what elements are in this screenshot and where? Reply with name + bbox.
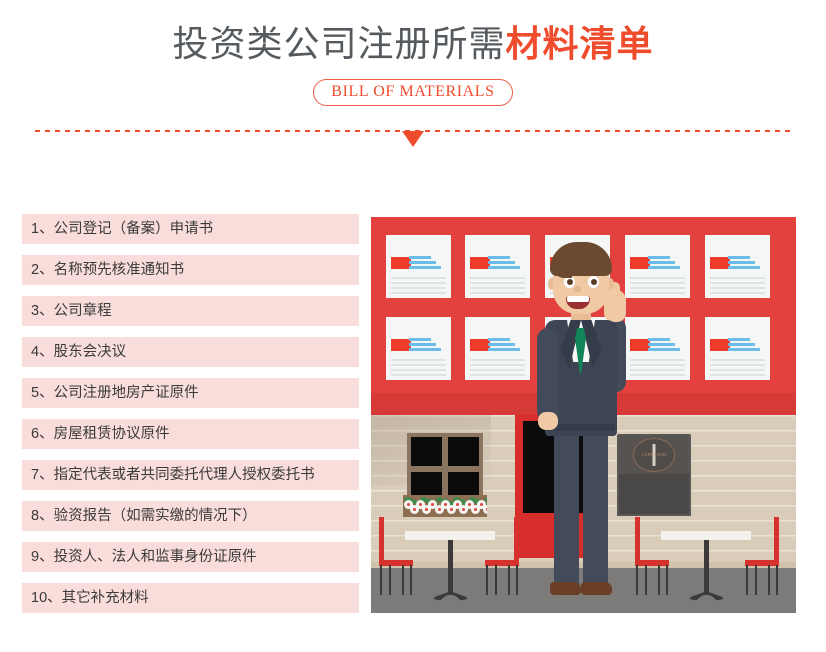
poster-headline-line [648, 266, 680, 269]
chair-leg [516, 565, 518, 595]
cafe-table [661, 531, 751, 603]
right-leg [583, 428, 608, 588]
flower [483, 505, 487, 514]
poster-text-line [391, 359, 446, 361]
poster-headline-line [728, 348, 760, 351]
materials-list: 1、公司登记（备案）申请书2、名称预先核准通知书3、公司章程4、股东会决议5、公… [22, 214, 359, 624]
poster-headline-line [728, 338, 750, 341]
chair-leg [508, 565, 510, 595]
poster-text-line [710, 277, 765, 279]
poster-headline-line [728, 266, 760, 269]
poster-text-line [710, 292, 765, 294]
poster-text-line [710, 287, 765, 289]
window-pane [448, 437, 479, 466]
list-item: 8、验资报告（如需实缴的情况下） [22, 501, 359, 531]
poster-text-line [391, 282, 446, 284]
poster-text-line [710, 359, 765, 361]
window-flower-box [403, 495, 487, 517]
poster-headline-line [648, 343, 675, 346]
poster-headline-line [409, 338, 431, 341]
chair-leg [389, 565, 391, 595]
poster-text-line [710, 369, 765, 371]
list-item: 5、公司注册地房产证原件 [22, 378, 359, 408]
page-title-accent: 材料清单 [506, 23, 654, 64]
poster-text-line [710, 282, 765, 284]
poster-document [386, 317, 451, 380]
right-shoe [581, 582, 612, 595]
down-arrow-icon [402, 131, 424, 147]
poster-headline-line [648, 338, 670, 341]
poster-image-block [470, 339, 490, 351]
poster-text-line [470, 374, 525, 376]
cafe-table [405, 531, 495, 603]
poster-text-line [470, 282, 525, 284]
chair-leg [380, 565, 382, 595]
left-leg [554, 428, 579, 588]
table-base [431, 591, 470, 601]
page-title-plain: 投资类公司注册所需 [172, 23, 505, 64]
poster-text-line [470, 359, 525, 361]
poster-document [705, 317, 770, 380]
chair-back [379, 517, 384, 565]
right-eye [588, 276, 599, 288]
list-item: 3、公司章程 [22, 296, 359, 326]
window-pane [411, 437, 442, 466]
poster-headline-line [488, 343, 515, 346]
poster-headline-line [488, 338, 510, 341]
poster-text-line [470, 292, 525, 294]
left-arm [537, 328, 559, 422]
list-item: 10、其它补充材料 [22, 583, 359, 613]
poster-text-line [391, 292, 446, 294]
table-base [687, 591, 726, 601]
chair-leg [645, 565, 647, 595]
chair-leg [768, 565, 770, 595]
poster-headline-line [648, 256, 670, 259]
poster-text-line [391, 277, 446, 279]
poster-headline-line [648, 261, 675, 264]
subtitle-badge-wrapper: BILL OF MATERIALS [0, 79, 826, 106]
poster-headline-line [488, 266, 520, 269]
poster-image-block [391, 339, 411, 351]
poster-image-block [710, 257, 730, 269]
page-title: 投资类公司注册所需材料清单 [0, 22, 826, 66]
poster-text-line [391, 369, 446, 371]
poster-text-line [470, 364, 525, 366]
list-item: 4、股东会决议 [22, 337, 359, 367]
poster-text-line [470, 277, 525, 279]
poster-headline-line [409, 261, 436, 264]
poster-text-line [391, 364, 446, 366]
left-shoe [550, 582, 581, 595]
poster-text-line [470, 287, 525, 289]
poster-headline-line [488, 256, 510, 259]
poster-text-line [391, 374, 446, 376]
poster-image-block [470, 257, 490, 269]
list-item: 2、名称预先核准通知书 [22, 255, 359, 285]
poster-headline-line [728, 256, 750, 259]
poster-headline-line [728, 343, 755, 346]
table-stem [704, 540, 709, 595]
poster-headline-line [728, 261, 755, 264]
poster-text-line [470, 369, 525, 371]
businessman-figure [521, 232, 641, 613]
list-item: 1、公司登记（备案）申请书 [22, 214, 359, 244]
poster-headline-line [409, 256, 431, 259]
chair-back [774, 517, 779, 565]
poster-headline-line [488, 261, 515, 264]
subtitle-badge: BILL OF MATERIALS [313, 79, 512, 106]
poster-headline-line [488, 348, 520, 351]
list-item: 6、房屋租赁协议原件 [22, 419, 359, 449]
poster-headline-line [409, 348, 441, 351]
poster-headline-line [648, 348, 680, 351]
poster-text-line [391, 287, 446, 289]
list-item: 9、投资人、法人和监事身份证原件 [22, 542, 359, 572]
poster-document [386, 235, 451, 298]
poster-text-line [710, 364, 765, 366]
hair [550, 242, 612, 276]
left-hand [538, 412, 558, 430]
table-top [661, 531, 751, 540]
chair-leg [755, 565, 757, 595]
chair-leg [495, 565, 497, 595]
poster-headline-line [409, 266, 441, 269]
poster-headline-line [409, 343, 436, 346]
table-top [405, 531, 495, 540]
poster-document [705, 235, 770, 298]
list-item: 7、指定代表或者共同委托代理人授权委托书 [22, 460, 359, 490]
poster-image-block [710, 339, 730, 351]
chair-back [514, 517, 519, 565]
nose [574, 286, 581, 292]
page-header: 投资类公司注册所需材料清单 BILL OF MATERIALS [0, 0, 826, 118]
legs [551, 428, 611, 596]
poster-image-block [391, 257, 411, 269]
poster-text-line [710, 374, 765, 376]
table-stem [448, 540, 453, 595]
chair-leg [776, 565, 778, 595]
storefront-illustration: CAFE FOOD [371, 217, 796, 613]
